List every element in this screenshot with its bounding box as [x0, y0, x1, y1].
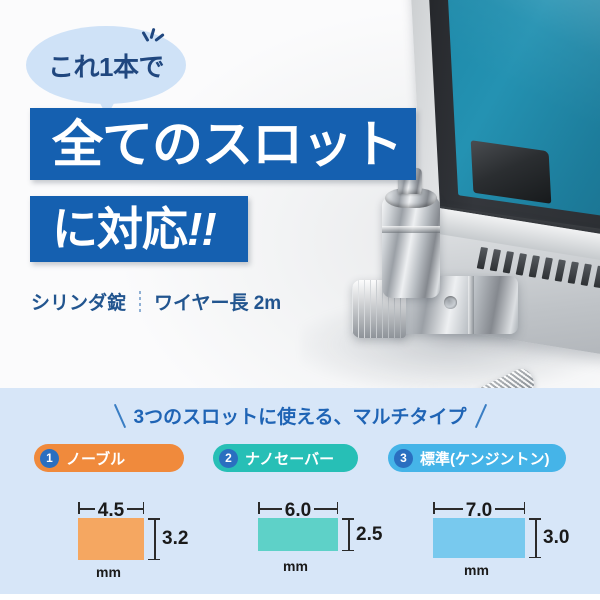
laptop-vent-slat: [568, 261, 579, 283]
slash-left-icon: [113, 403, 125, 428]
subtitle-lock-type: シリンダ錠: [31, 288, 126, 315]
dimension-cap: [148, 518, 160, 520]
slot-types-panel: 3つのスロットに使える、マルチタイプ 1 ノーブル 2 ナノセーバー 3 標準(…: [0, 388, 600, 594]
pill-label: ノーブル: [66, 448, 125, 469]
knob-ridge: [371, 280, 376, 338]
lock-arm-seam: [468, 276, 474, 334]
pill-label: ナノセーバー: [245, 448, 334, 469]
slot-shape-rect: [433, 518, 525, 558]
dimension-cap: [529, 518, 541, 520]
pill-number-badge: 3: [394, 449, 413, 468]
hero-section: これ1本で 全てのスロット に対応!! シリンダ錠 ワイヤー長 2m: [0, 0, 600, 388]
height-value: 2.5: [356, 524, 382, 546]
headline-banner-line1: 全てのスロット: [30, 108, 416, 180]
height-dimension-line: 2.5: [342, 518, 354, 551]
headline-line2-exclamation: !!: [187, 203, 216, 255]
knob-ridge: [359, 280, 364, 338]
lock-keyhole-dimple: [444, 296, 457, 309]
subtitle-divider: [139, 291, 141, 312]
sparkle-icon: [142, 28, 164, 50]
laptop-vent-slat: [555, 259, 566, 281]
dimension-bar: [348, 518, 350, 551]
slot-type-pill-standard[interactable]: 3 標準(ケンジントン): [388, 444, 566, 472]
speech-bubble-text: これ1本で: [48, 47, 164, 84]
lock-barrel-ring: [382, 226, 440, 233]
dimension-bar: [535, 518, 537, 558]
slot-shape-rect: [78, 518, 144, 560]
pill-number-badge: 2: [219, 449, 238, 468]
laptop-vent-slat: [529, 255, 540, 277]
height-dimension-line: 3.0: [529, 518, 541, 558]
height-dimension-line: 3.2: [148, 518, 160, 560]
slot-shape-rect: [258, 518, 338, 551]
dimension-cap: [342, 550, 354, 552]
pill-number-badge: 1: [40, 449, 59, 468]
width-dimension-line: 6.0: [258, 502, 338, 514]
headline-line2-text: に対応!!: [52, 206, 216, 252]
knob-ridge: [365, 280, 370, 338]
bottom-white-strip: [0, 594, 600, 600]
laptop-vent-slat: [542, 257, 553, 279]
dimension-cap: [529, 557, 541, 559]
headline-line1-text: 全てのスロット: [52, 119, 402, 170]
width-dimension-line: 4.5: [78, 502, 144, 514]
laptop-vent-slat: [594, 266, 600, 288]
subtitle-row: シリンダ錠 ワイヤー長 2m: [31, 288, 281, 315]
unit-label: mm: [464, 562, 489, 578]
dimension-cap: [148, 559, 160, 561]
slot-type-pill-noble[interactable]: 1 ノーブル: [34, 444, 184, 472]
slot-type-pill-nanosaver[interactable]: 2 ナノセーバー: [213, 444, 358, 472]
subtitle-cable-length: ワイヤー長 2m: [154, 288, 281, 315]
slot-type-pills: 1 ノーブル 2 ナノセーバー 3 標準(ケンジントン): [0, 444, 600, 474]
dimension-cap: [342, 518, 354, 520]
panel-heading-text: 3つのスロットに使える、マルチタイプ: [134, 402, 467, 429]
headline-line2-main: に対応: [52, 203, 187, 255]
height-value: 3.0: [543, 527, 569, 549]
pill-label: 標準(ケンジントン): [420, 448, 550, 469]
width-dimension-line: 7.0: [433, 502, 525, 514]
unit-label: mm: [96, 564, 121, 580]
dimension-bar: [154, 518, 156, 560]
knob-ridge: [353, 280, 358, 338]
panel-heading-row: 3つのスロットに使える、マルチタイプ: [0, 402, 600, 429]
laptop-vent-slat: [581, 264, 592, 286]
slash-right-icon: [474, 403, 486, 428]
cylinder-lock-image: [352, 168, 522, 343]
height-value: 3.2: [162, 528, 188, 550]
unit-label: mm: [283, 558, 308, 574]
headline-banner-line2: に対応!!: [30, 196, 248, 262]
lock-barrel: [382, 196, 440, 298]
